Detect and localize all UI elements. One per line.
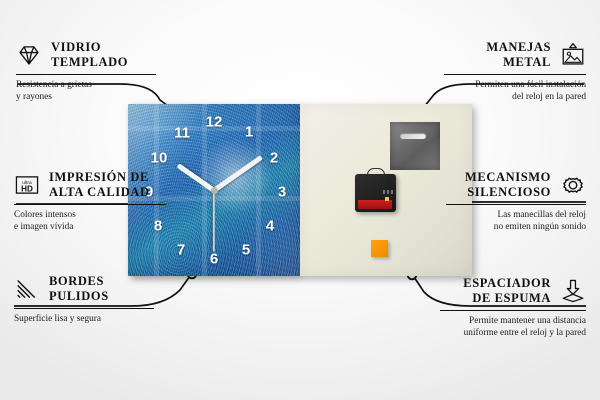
clock-numeral-4: 4 [266, 219, 274, 234]
clock-numeral-10: 10 [151, 151, 168, 166]
clock-numeral-7: 7 [177, 243, 185, 258]
clock-numeral-11: 11 [174, 126, 190, 141]
mechanism-battery [358, 200, 392, 209]
feature-subtitle: Colores intensos e imagen vívida [14, 209, 166, 234]
infographic-canvas: 12 1 2 3 4 5 6 7 8 9 10 11 [0, 0, 600, 400]
diamond-icon [16, 42, 42, 68]
metal-hanger-part [390, 122, 440, 170]
divider [440, 310, 586, 312]
mechanism-contacts [383, 190, 393, 194]
clock-numeral-6: 6 [210, 252, 218, 267]
svg-text:HD: HD [21, 184, 33, 193]
feature-vidrio-templado[interactable]: VIDRIO TEMPLADO Resistencia a grietas y … [16, 40, 156, 104]
quartz-mechanism-part [355, 174, 396, 212]
feature-title: ESPACIADOR DE ESPUMA [463, 276, 551, 306]
feature-impresion-alta-calidad[interactable]: ultra HD IMPRESIÓN DE ALTA CALIDAD Color… [14, 170, 166, 234]
feature-title: MECANISMO SILENCIOSO [465, 170, 551, 200]
feature-espaciador-espuma[interactable]: ESPACIADOR DE ESPUMA Permite mantener un… [440, 276, 586, 340]
clock-numeral-5: 5 [242, 243, 250, 258]
feature-title: MANEJAS METAL [486, 40, 551, 70]
divider [446, 204, 586, 206]
clock-numeral-3: 3 [278, 185, 286, 200]
feature-subtitle: Resistencia a grietas y rayones [16, 79, 156, 104]
gear-icon [560, 172, 586, 198]
divider [16, 74, 156, 76]
divider [14, 204, 166, 206]
feature-mecanismo-silencioso[interactable]: MECANISMO SILENCIOSO Las manecillas del … [446, 170, 586, 234]
feature-title: IMPRESIÓN DE ALTA CALIDAD [49, 170, 150, 200]
hanger-slot [400, 133, 426, 139]
clock-numeral-2: 2 [270, 151, 278, 166]
feature-subtitle: Permiten una fácil instalación del reloj… [444, 79, 586, 104]
foam-spacer-part [371, 240, 388, 257]
clock-numeral-12: 12 [206, 115, 223, 130]
diagonal-lines-icon [14, 276, 40, 302]
clock-numeral-1: 1 [245, 125, 253, 140]
feature-manejas-metal[interactable]: MANEJAS METAL Permiten una fácil instala… [444, 40, 586, 104]
picture-frame-hanger-icon [560, 42, 586, 68]
clock-center-cap [211, 187, 218, 194]
product-image: 12 1 2 3 4 5 6 7 8 9 10 11 [128, 104, 472, 276]
feature-bordes-pulidos[interactable]: BORDES PULIDOS Superficie lisa y segura [14, 274, 154, 325]
feature-title: BORDES PULIDOS [49, 274, 109, 304]
divider [444, 74, 586, 76]
feature-subtitle: Las manecillas del reloj no emiten ningú… [446, 209, 586, 234]
feature-subtitle: Superficie lisa y segura [14, 313, 154, 325]
clock-second-hand [213, 190, 215, 252]
feature-title: VIDRIO TEMPLADO [51, 40, 128, 70]
ultra-hd-icon: ultra HD [14, 172, 40, 198]
arrow-down-layers-icon [560, 278, 586, 304]
divider [14, 308, 154, 310]
feature-subtitle: Permite mantener una distancia uniforme … [440, 315, 586, 340]
mechanism-loop [367, 168, 385, 179]
